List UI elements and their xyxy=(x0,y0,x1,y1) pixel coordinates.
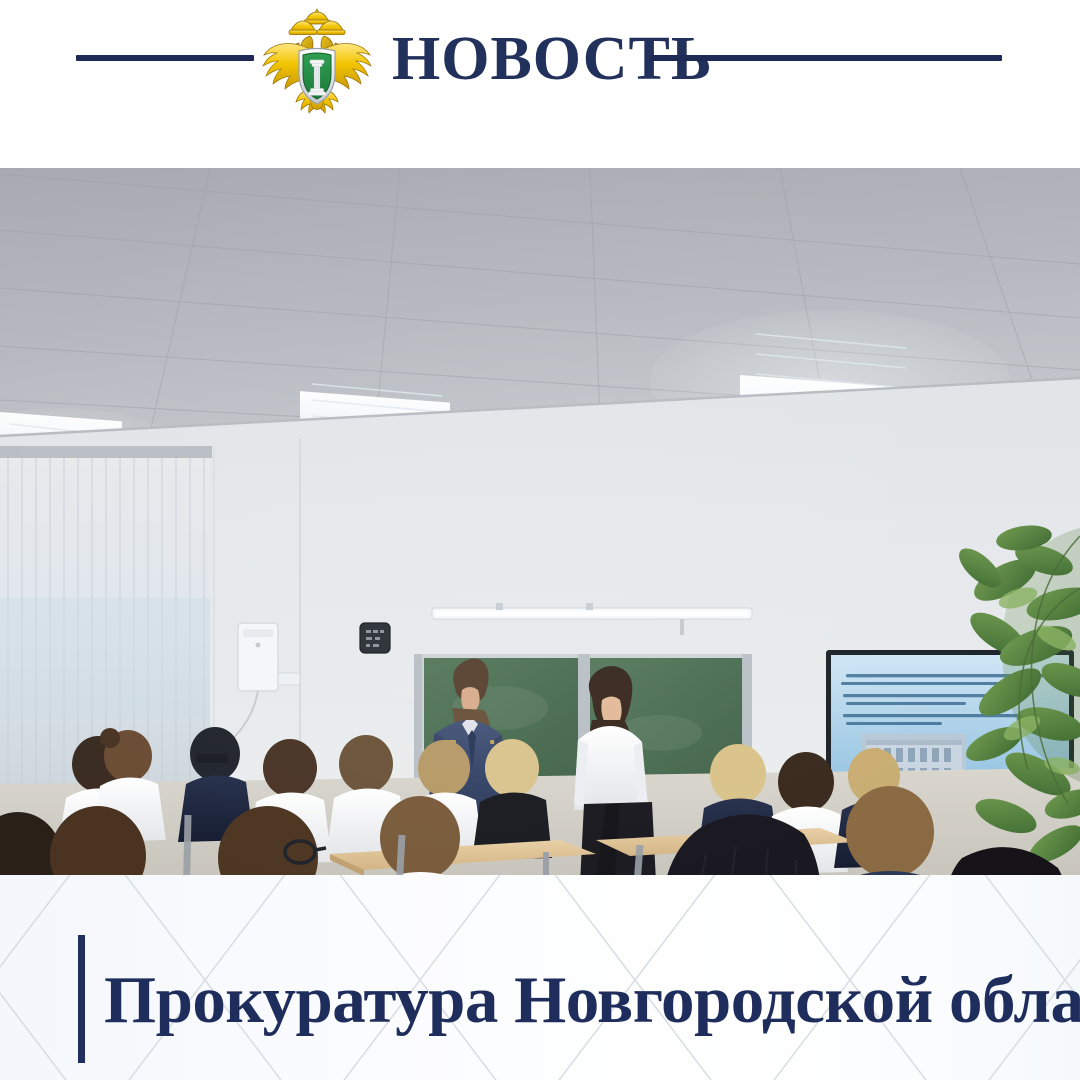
russian-prosecutor-general-emblem-icon xyxy=(258,4,376,116)
header-rule-left xyxy=(76,55,254,61)
header-rule-right xyxy=(650,55,1002,61)
header: НОВОСТЬ xyxy=(0,0,1080,168)
news-card: НОВОСТЬ xyxy=(0,0,1080,1080)
classroom-photo xyxy=(0,168,1080,875)
footer-organization-title: Прокуратура Новгородской области xyxy=(104,945,1064,1055)
footer-accent-bar xyxy=(78,935,85,1063)
news-badge-label: НОВОСТЬ xyxy=(392,22,632,96)
